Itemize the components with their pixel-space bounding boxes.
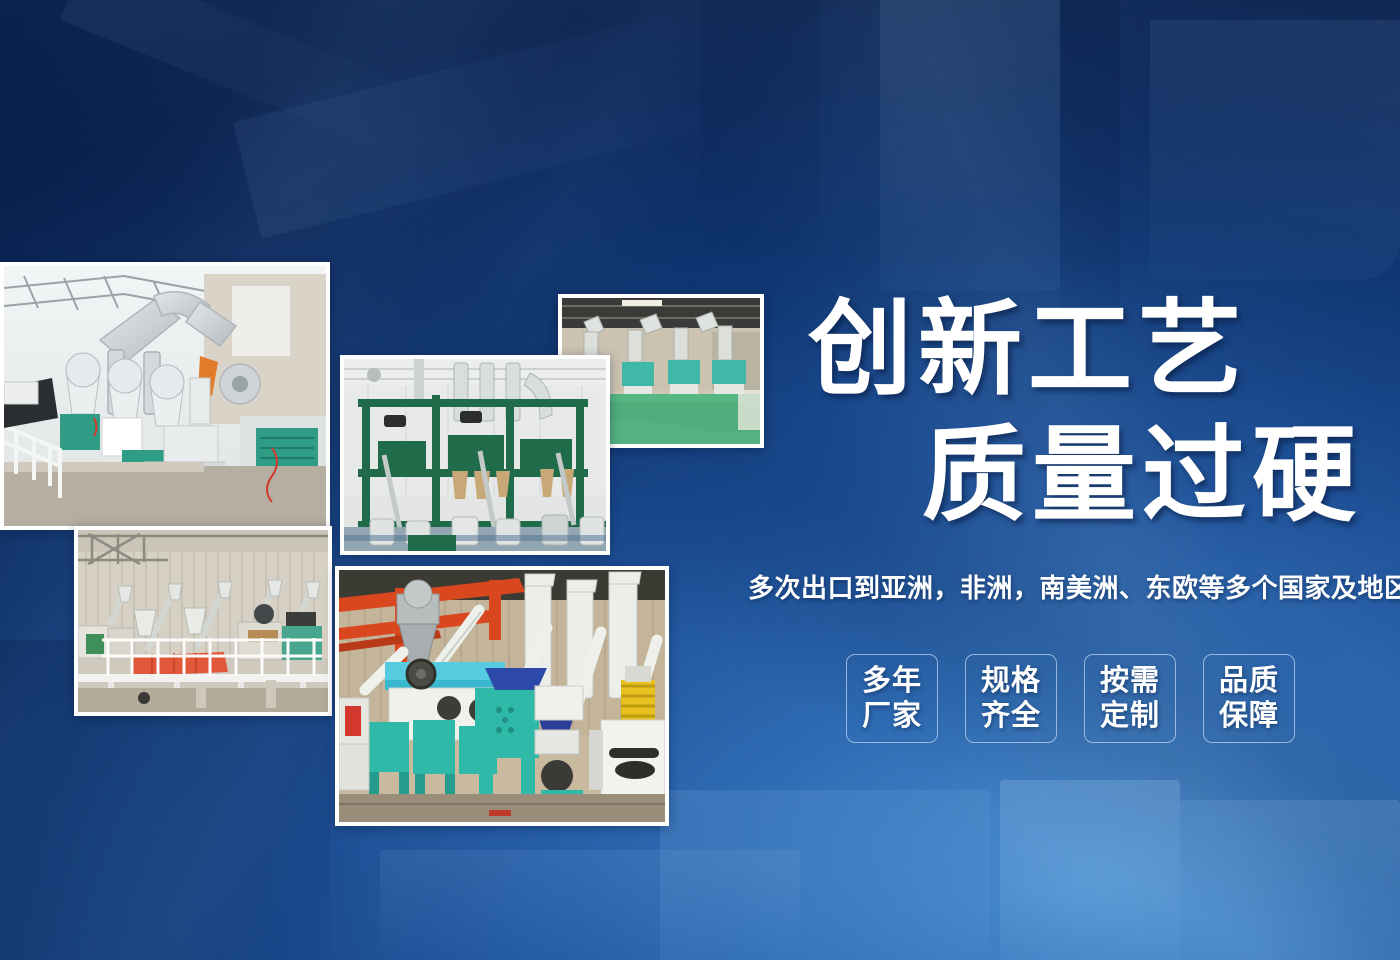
photo-main [335,566,669,826]
badge-line-2: 定制 [1100,699,1160,733]
badge-line-2: 保障 [1219,699,1279,733]
badge-line-1: 品质 [1219,664,1279,698]
headline-line-2: 质量过硬 [922,424,1362,528]
photo-bottom-left [74,526,332,716]
badge-full-specifications[interactable]: 规格 齐全 [965,654,1057,743]
photo-top-left-image [4,266,326,526]
photo-top-left [0,262,330,530]
photo-main-image [339,570,665,822]
badge-quality-guarantee[interactable]: 品质 保障 [1203,654,1295,743]
badge-custom-made[interactable]: 按需 定制 [1084,654,1176,743]
subtitle: 多次出口到亚洲，非洲，南美洲、东欧等多个国家及地区 [748,568,1400,605]
badge-many-years-manufacturer[interactable]: 多年 厂家 [846,654,938,743]
badge-line-1: 多年 [862,664,922,698]
badge-line-2: 厂家 [862,699,922,733]
badge-line-1: 规格 [981,664,1041,698]
photo-bottom-left-image [78,530,328,712]
promo-banner: 创新工艺 质量过硬 多次出口到亚洲，非洲，南美洲、东欧等多个国家及地区 多年 厂… [0,0,1400,960]
headline-line-1: 创新工艺 [808,298,1248,402]
badge-line-2: 齐全 [981,699,1041,733]
photo-center-image [344,359,606,551]
feature-badge-row: 多年 厂家 规格 齐全 按需 定制 品质 保障 [846,654,1295,743]
photo-center [340,355,610,555]
badge-line-1: 按需 [1100,664,1160,698]
